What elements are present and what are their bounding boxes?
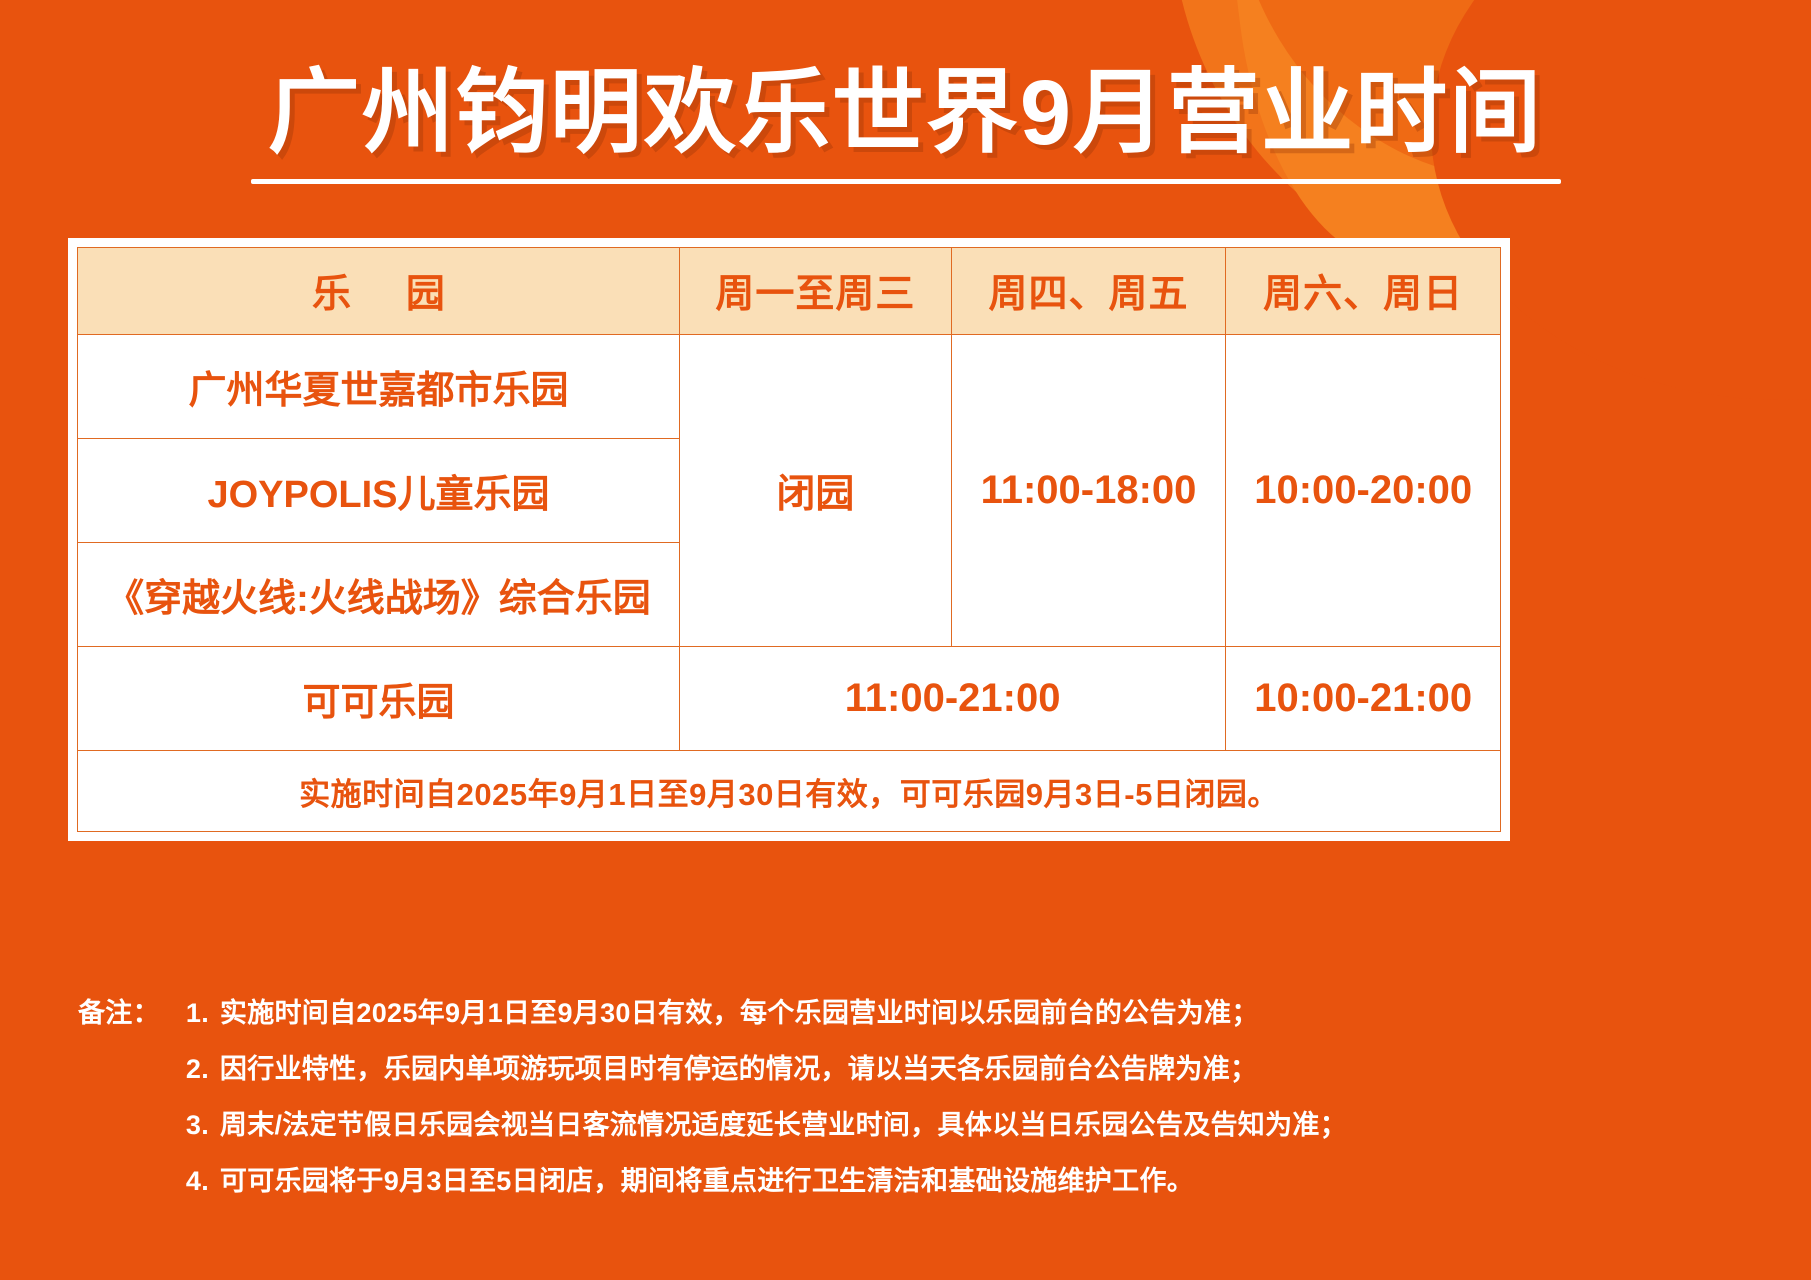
- page-title: 广州钧明欢乐世界9月营业时间: [268, 62, 1543, 165]
- hours-koko-weekend: 10:00-21:00: [1226, 647, 1501, 751]
- note-text: 因行业特性，乐园内单项游玩项目时有停运的情况，请以当天各乐园前台公告牌为准；: [220, 1056, 1751, 1083]
- col-header-mon-wed: 周一至周三: [679, 248, 951, 335]
- note-number: 4.: [176, 1168, 220, 1195]
- table-row: 广州华夏世嘉都市乐园 闭园 11:00-18:00 10:00-20:00: [78, 335, 1501, 439]
- table-footer-row: 实施时间自2025年9月1日至9月30日有效，可可乐园9月3日-5日闭园。: [78, 751, 1501, 832]
- list-item: 备注： 1. 实施时间自2025年9月1日至9月30日有效，每个乐园营业时间以乐…: [78, 1000, 1751, 1027]
- notes-section: 备注： 1. 实施时间自2025年9月1日至9月30日有效，每个乐园营业时间以乐…: [78, 1000, 1751, 1224]
- list-item: 备注： 2. 因行业特性，乐园内单项游玩项目时有停运的情况，请以当天各乐园前台公…: [78, 1056, 1751, 1083]
- col-header-thu-fri: 周四、周五: [951, 248, 1226, 335]
- note-number: 1.: [176, 1000, 220, 1027]
- note-text: 实施时间自2025年9月1日至9月30日有效，每个乐园营业时间以乐园前台的公告为…: [220, 1000, 1751, 1027]
- note-number: 3.: [176, 1112, 220, 1139]
- note-number: 2.: [176, 1056, 220, 1083]
- park-name-cell: 可可乐园: [78, 647, 680, 751]
- col-header-sat-sun: 周六、周日: [1226, 248, 1501, 335]
- hours-thu-fri-merged: 11:00-18:00: [951, 335, 1226, 647]
- list-item: 备注： 3. 周末/法定节假日乐园会视当日客流情况适度延长营业时间，具体以当日乐…: [78, 1112, 1751, 1139]
- note-text: 可可乐园将于9月3日至5日闭店，期间将重点进行卫生清洁和基础设施维护工作。: [220, 1168, 1751, 1195]
- note-text: 周末/法定节假日乐园会视当日客流情况适度延长营业时间，具体以当日乐园公告及告知为…: [220, 1112, 1751, 1139]
- footer-note-cell: 实施时间自2025年9月1日至9月30日有效，可可乐园9月3日-5日闭园。: [78, 751, 1501, 832]
- opening-hours-table: 乐 园 周一至周三 周四、周五 周六、周日 广州华夏世嘉都市乐园 闭园 11:0…: [77, 247, 1501, 832]
- list-item: 备注： 4. 可可乐园将于9月3日至5日闭店，期间将重点进行卫生清洁和基础设施维…: [78, 1168, 1751, 1195]
- park-name-cell: JOYPOLIS儿童乐园: [78, 439, 680, 543]
- schedule-card: 乐 园 周一至周三 周四、周五 周六、周日 广州华夏世嘉都市乐园 闭园 11:0…: [68, 238, 1510, 841]
- notes-label: 备注：: [78, 1000, 176, 1027]
- table-header: 乐 园 周一至周三 周四、周五 周六、周日: [78, 248, 1501, 335]
- table-header-row: 乐 园 周一至周三 周四、周五 周六、周日: [78, 248, 1501, 335]
- park-name-cell: 广州华夏世嘉都市乐园: [78, 335, 680, 439]
- title-underline: [251, 179, 1561, 184]
- hours-koko-weekday: 11:00-21:00: [679, 647, 1225, 751]
- table-row: 可可乐园 11:00-21:00 10:00-21:00: [78, 647, 1501, 751]
- hours-sat-sun-merged: 10:00-20:00: [1226, 335, 1501, 647]
- park-name-cell: 《穿越火线:火线战场》综合乐园: [78, 543, 680, 647]
- table-body: 广州华夏世嘉都市乐园 闭园 11:00-18:00 10:00-20:00 JO…: [78, 335, 1501, 751]
- title-block: 广州钧明欢乐世界9月营业时间: [0, 62, 1811, 184]
- table-footer: 实施时间自2025年9月1日至9月30日有效，可可乐园9月3日-5日闭园。: [78, 751, 1501, 832]
- hours-mon-wed-merged: 闭园: [679, 335, 951, 647]
- col-header-park: 乐 园: [78, 248, 680, 335]
